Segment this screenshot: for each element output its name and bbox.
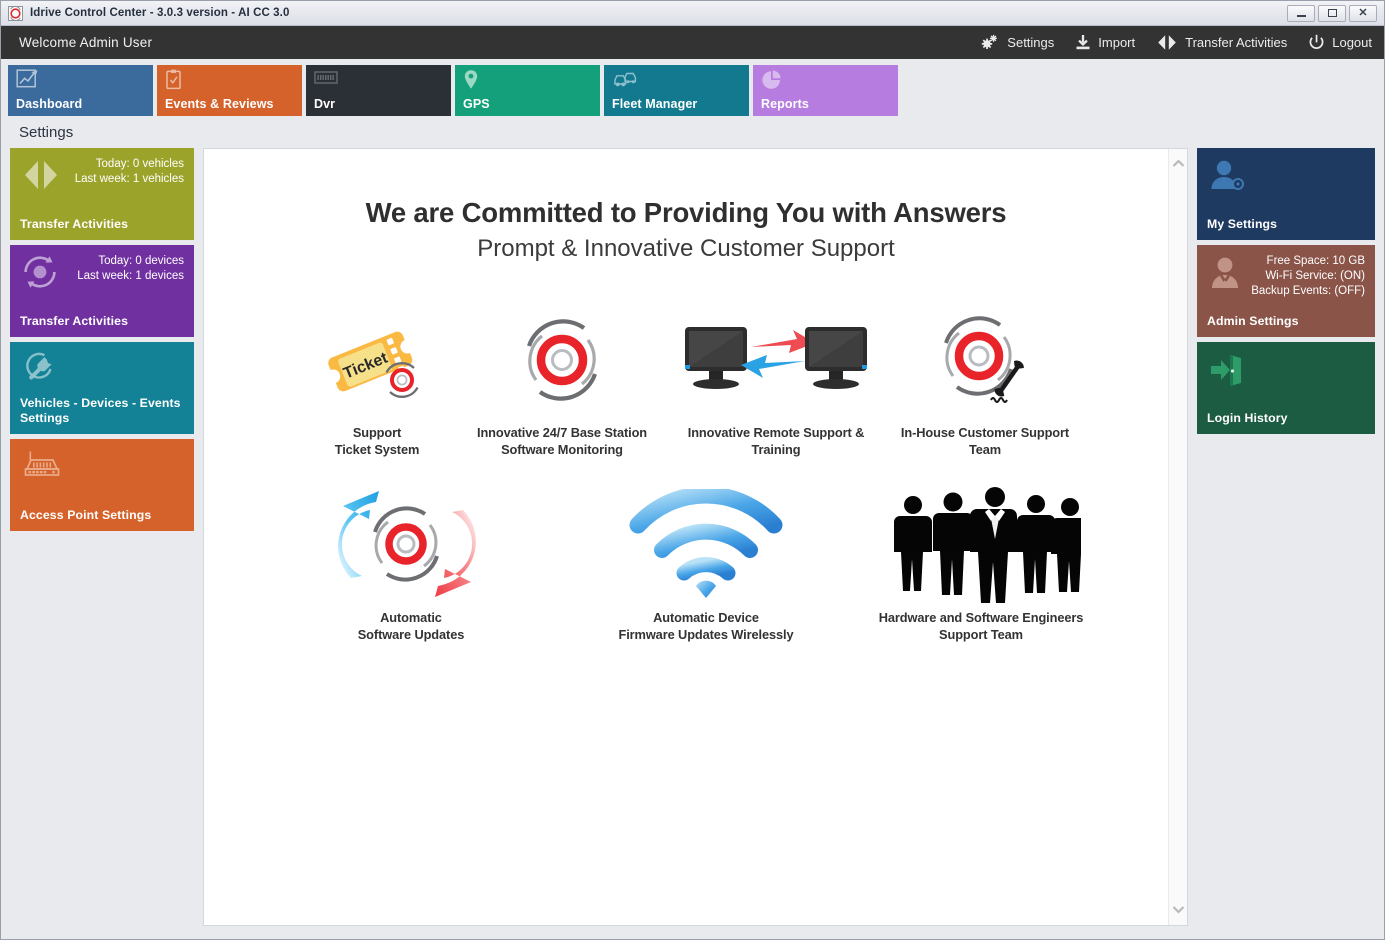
- vehicles-icon: [612, 69, 749, 93]
- feature-base-station-monitoring: Innovative 24/7 Base Station Software Mo…: [462, 309, 662, 458]
- menu-import[interactable]: Import: [1075, 34, 1135, 51]
- tile-label: Vehicles - Devices - Events Settings: [20, 396, 184, 426]
- body-row: Today: 0 vehicles Last week: 1 vehicles …: [1, 148, 1384, 939]
- tab-dashboard[interactable]: Dashboard: [8, 65, 153, 116]
- menu-logout-label: Logout: [1332, 35, 1372, 50]
- caption-line-2: Software Updates: [358, 626, 465, 643]
- title-bar: Idrive Control Center - 3.0.3 version - …: [1, 1, 1384, 26]
- feature-firmware-updates-wirelessly: Automatic Device Firmware Updates Wirele…: [561, 494, 851, 643]
- sync-target-icon: [321, 494, 501, 596]
- tile-transfer-activities-devices[interactable]: Today: 0 devices Last week: 1 devices Tr…: [10, 245, 194, 337]
- tile-label: Login History: [1207, 411, 1365, 426]
- feature-engineers-support-team: Hardware and Software Engineers Support …: [851, 494, 1111, 643]
- scroll-down-chevron-icon[interactable]: [1172, 901, 1185, 919]
- caption-line-1: Automatic Device: [619, 609, 794, 626]
- pie-chart-icon: [761, 69, 898, 93]
- caption-line-1: Automatic: [358, 609, 465, 626]
- tile-label: Transfer Activities: [20, 314, 184, 329]
- close-button[interactable]: ✕: [1349, 5, 1377, 22]
- caption-line-2: Ticket System: [335, 441, 420, 458]
- caption-line-2: Team: [901, 441, 1069, 458]
- feature-caption: Hardware and Software Engineers Support …: [879, 609, 1084, 643]
- tile-transfer-activities-vehicles[interactable]: Today: 0 vehicles Last week: 1 vehicles …: [10, 148, 194, 240]
- feature-in-house-support-team: In-House Customer Support Team: [890, 309, 1080, 458]
- gears-icon: [980, 34, 1000, 51]
- feature-row-1: Ticket Support: [204, 309, 1168, 458]
- menu-import-label: Import: [1098, 35, 1135, 50]
- tab-reports[interactable]: Reports: [753, 65, 898, 116]
- tile-label: My Settings: [1207, 217, 1365, 232]
- tab-fleet-manager[interactable]: Fleet Manager: [604, 65, 749, 116]
- feature-caption: In-House Customer Support Team: [901, 424, 1069, 458]
- support-overview: We are Committed to Providing You with A…: [204, 149, 1168, 925]
- download-icon: [1075, 34, 1091, 51]
- feature-caption: Support Ticket System: [335, 424, 420, 458]
- tab-gps-label: GPS: [463, 97, 600, 116]
- admin-user-icon: [1208, 255, 1242, 291]
- wrench-icon: [21, 352, 57, 384]
- caption-line-2: Support Team: [879, 626, 1084, 643]
- right-sidebar: My Settings Free Space: 10 GB Wi-Fi Serv…: [1197, 148, 1375, 926]
- minimize-button[interactable]: [1287, 5, 1315, 22]
- caption-line-1: Innovative 24/7 Base Station: [477, 424, 647, 441]
- content-vertical-scrollbar[interactable]: [1168, 149, 1187, 925]
- caption-line-2: Training: [688, 441, 864, 458]
- tile-label: Admin Settings: [1207, 314, 1365, 329]
- tab-dvr-label: Dvr: [314, 97, 451, 116]
- transfer-arrows-icon: [21, 158, 61, 192]
- maximize-button[interactable]: [1318, 5, 1346, 22]
- caption-line-1: Innovative Remote Support &: [688, 424, 864, 441]
- hero-subtitle: Prompt & Innovative Customer Support: [477, 235, 895, 263]
- router-icon: [21, 449, 63, 483]
- feature-row-2: Automatic Software Updates: [204, 494, 1168, 643]
- content-panel: We are Committed to Providing You with A…: [203, 148, 1188, 926]
- ticket-target-icon: Ticket: [322, 309, 432, 411]
- menu-settings-label: Settings: [1007, 35, 1054, 50]
- feature-automatic-software-updates: Automatic Software Updates: [261, 494, 561, 643]
- tile-my-settings[interactable]: My Settings: [1197, 148, 1375, 240]
- feature-support-ticket-system: Ticket Support: [292, 309, 462, 458]
- tab-dvr[interactable]: Dvr: [306, 65, 451, 116]
- tab-gps[interactable]: GPS: [455, 65, 600, 116]
- tab-events-reviews-label: Events & Reviews: [165, 97, 302, 116]
- tab-fleet-manager-label: Fleet Manager: [612, 97, 749, 116]
- menu-actions: Settings Import Transf: [980, 34, 1372, 51]
- feature-caption: Innovative Remote Support & Training: [688, 424, 864, 458]
- tab-reports-label: Reports: [761, 97, 898, 116]
- tile-label: Transfer Activities: [20, 217, 184, 232]
- user-gear-icon: [1208, 158, 1246, 194]
- dvr-device-icon: [314, 69, 451, 93]
- top-menu-bar: Welcome Admin User: [1, 26, 1384, 59]
- window-title: Idrive Control Center - 3.0.3 version - …: [30, 7, 289, 19]
- caption-line-2: Software Monitoring: [477, 441, 647, 458]
- tile-access-point-settings[interactable]: Access Point Settings: [10, 439, 194, 531]
- caption-line-2: Firmware Updates Wirelessly: [619, 626, 794, 643]
- sync-circle-icon: [21, 255, 59, 289]
- target-logo-icon: [8, 6, 23, 21]
- tile-admin-settings[interactable]: Free Space: 10 GB Wi-Fi Service: (ON) Ba…: [1197, 245, 1375, 337]
- feature-caption: Automatic Device Firmware Updates Wirele…: [619, 609, 794, 643]
- target-phone-icon: [933, 309, 1037, 411]
- feature-caption: Automatic Software Updates: [358, 609, 465, 643]
- wifi-signal-icon: [628, 494, 784, 596]
- caption-line-1: Support: [335, 424, 420, 441]
- tile-label: Access Point Settings: [20, 508, 184, 523]
- menu-settings[interactable]: Settings: [980, 34, 1054, 51]
- caption-line-1: Hardware and Software Engineers: [879, 609, 1084, 626]
- caption-line-1: In-House Customer Support: [901, 424, 1069, 441]
- welcome-message: Welcome Admin User: [19, 35, 152, 50]
- target-logo-icon: [516, 309, 608, 411]
- tile-vehicles-devices-events-settings[interactable]: Vehicles - Devices - Events Settings: [10, 342, 194, 434]
- team-silhouette-icon: [881, 494, 1081, 596]
- tab-events-reviews[interactable]: Events & Reviews: [157, 65, 302, 116]
- scroll-up-chevron-icon[interactable]: [1172, 155, 1185, 173]
- transfer-arrows-icon: [1156, 34, 1178, 51]
- feature-remote-support-training: Innovative Remote Support & Training: [662, 309, 890, 458]
- login-door-icon: [1208, 352, 1244, 386]
- chart-line-icon: [16, 69, 153, 93]
- hero-title: We are Committed to Providing You with A…: [366, 197, 1007, 229]
- left-sidebar: Today: 0 vehicles Last week: 1 vehicles …: [10, 148, 194, 926]
- dual-monitors-icon: [681, 309, 871, 411]
- menu-logout[interactable]: Logout: [1308, 34, 1372, 51]
- window-controls: ✕: [1287, 5, 1382, 22]
- application-window: Idrive Control Center - 3.0.3 version - …: [0, 0, 1385, 940]
- tile-login-history[interactable]: Login History: [1197, 342, 1375, 434]
- menu-transfer-activities[interactable]: Transfer Activities: [1156, 34, 1287, 51]
- main-tab-strip: Dashboard Events & Reviews: [1, 59, 1384, 116]
- feature-caption: Innovative 24/7 Base Station Software Mo…: [477, 424, 647, 458]
- page-title: Settings: [1, 116, 1384, 148]
- map-pin-icon: [463, 69, 600, 93]
- menu-transfer-label: Transfer Activities: [1185, 35, 1287, 50]
- clipboard-check-icon: [165, 69, 302, 93]
- tab-dashboard-label: Dashboard: [16, 97, 153, 116]
- power-icon: [1308, 34, 1325, 51]
